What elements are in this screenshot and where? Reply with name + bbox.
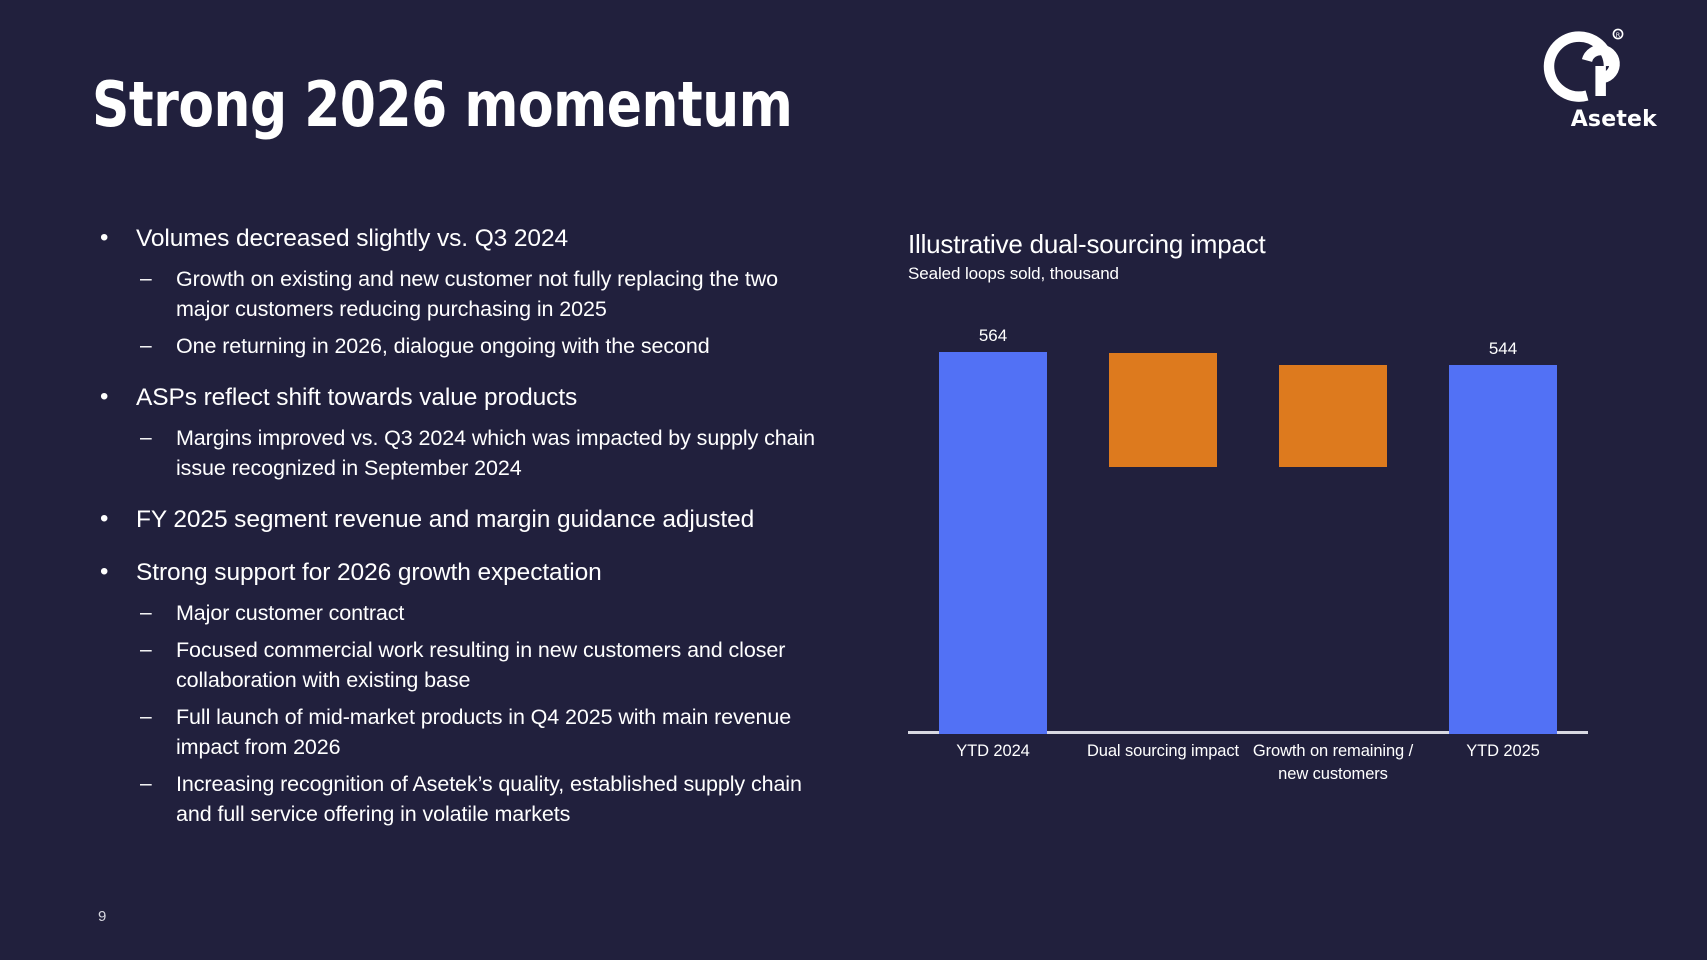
bullet-marker-icon: •	[100, 555, 108, 588]
sub-bullet-list: –Major customer contract–Focused commerc…	[92, 598, 822, 829]
page-title: Strong 2026 momentum	[92, 68, 792, 141]
bullet-marker-icon: •	[100, 380, 108, 413]
bullet-item-level1: •Strong support for 2026 growth expectat…	[92, 556, 822, 589]
sub-bullet-text: Margins improved vs. Q3 2024 which was i…	[176, 426, 815, 480]
bullet-text: Strong support for 2026 growth expectati…	[136, 559, 602, 586]
chart-bar	[939, 352, 1047, 734]
asetek-logo: R Asetek	[1509, 22, 1659, 132]
chart-subtitle: Sealed loops sold, thousand	[908, 262, 1628, 286]
chart-bar	[1279, 365, 1387, 467]
sub-bullet-list: –Growth on existing and new customer not…	[92, 264, 822, 361]
bullet-list: •Volumes decreased slightly vs. Q3 2024–…	[92, 222, 822, 829]
bullet-text: ASPs reflect shift towards value product…	[136, 384, 577, 411]
dash-marker-icon: –	[140, 331, 152, 361]
dash-marker-icon: –	[140, 423, 152, 453]
chart-title: Illustrative dual-sourcing impact	[908, 228, 1628, 260]
bullet-item-level2: –One returning in 2026, dialogue ongoing…	[92, 331, 822, 361]
dash-marker-icon: –	[140, 264, 152, 294]
category-label: YTD 2025	[1408, 740, 1598, 763]
sub-bullet-text: Full launch of mid-market products in Q4…	[176, 705, 791, 759]
category-label: Dual sourcing impact	[1068, 740, 1258, 763]
bullet-block: •FY 2025 segment revenue and margin guid…	[92, 503, 822, 536]
bullet-item-level2: –Increasing recognition of Asetek’s qual…	[92, 769, 822, 829]
bullet-marker-icon: •	[100, 221, 108, 254]
sub-bullet-text: Increasing recognition of Asetek’s quali…	[176, 772, 802, 826]
dash-marker-icon: –	[140, 702, 152, 732]
bullet-item-level2: –Margins improved vs. Q3 2024 which was …	[92, 423, 822, 483]
dash-marker-icon: –	[140, 769, 152, 799]
bar-value-label: 544	[1443, 339, 1563, 359]
bullet-item-level1: •ASPs reflect shift towards value produc…	[92, 381, 822, 414]
dash-marker-icon: –	[140, 598, 152, 628]
category-label: YTD 2024	[898, 740, 1088, 763]
svg-text:R: R	[1616, 31, 1621, 39]
category-label-line: YTD 2025	[1408, 740, 1598, 763]
slide-canvas: R Asetek Strong 2026 momentum •Volumes d…	[0, 0, 1707, 960]
bullet-item-level2: –Focused commercial work resulting in ne…	[92, 635, 822, 695]
asetek-wordmark: Asetek	[1509, 107, 1657, 132]
bar-value-label: 564	[933, 326, 1053, 346]
chart-bar	[1449, 365, 1557, 734]
sub-bullet-list: –Margins improved vs. Q3 2024 which was …	[92, 423, 822, 483]
sub-bullet-text: Focused commercial work resulting in new…	[176, 638, 785, 692]
bullet-text: FY 2025 segment revenue and margin guida…	[136, 506, 754, 533]
sub-bullet-text: Growth on existing and new customer not …	[176, 267, 778, 321]
bullet-text: Volumes decreased slightly vs. Q3 2024	[136, 225, 568, 252]
asetek-a-mark-icon: R	[1509, 22, 1659, 108]
category-label-line: Dual sourcing impact	[1068, 740, 1258, 763]
category-label: Growth on remaining /new customers	[1238, 740, 1428, 786]
chart-bar	[1109, 353, 1217, 467]
waterfall-plot: 564544	[908, 314, 1588, 734]
bullet-block: •Volumes decreased slightly vs. Q3 2024–…	[92, 222, 822, 361]
category-label-line: Growth on remaining /	[1238, 740, 1428, 763]
bullet-marker-icon: •	[100, 502, 108, 535]
bullet-block: •ASPs reflect shift towards value produc…	[92, 381, 822, 483]
bullet-block: •Strong support for 2026 growth expectat…	[92, 556, 822, 829]
category-label-line: YTD 2024	[898, 740, 1088, 763]
category-label-line: new customers	[1238, 763, 1428, 786]
bullet-item-level2: –Full launch of mid-market products in Q…	[92, 702, 822, 762]
bullet-item-level2: –Growth on existing and new customer not…	[92, 264, 822, 324]
sub-bullet-text: One returning in 2026, dialogue ongoing …	[176, 334, 710, 358]
chart-panel: Illustrative dual-sourcing impact Sealed…	[908, 228, 1628, 828]
bullet-item-level2: –Major customer contract	[92, 598, 822, 628]
sub-bullet-text: Major customer contract	[176, 601, 404, 625]
category-labels: YTD 2024Dual sourcing impactGrowth on re…	[908, 740, 1588, 800]
bullet-item-level1: •FY 2025 segment revenue and margin guid…	[92, 503, 822, 536]
page-number: 9	[98, 908, 106, 925]
bullet-item-level1: •Volumes decreased slightly vs. Q3 2024	[92, 222, 822, 255]
dash-marker-icon: –	[140, 635, 152, 665]
